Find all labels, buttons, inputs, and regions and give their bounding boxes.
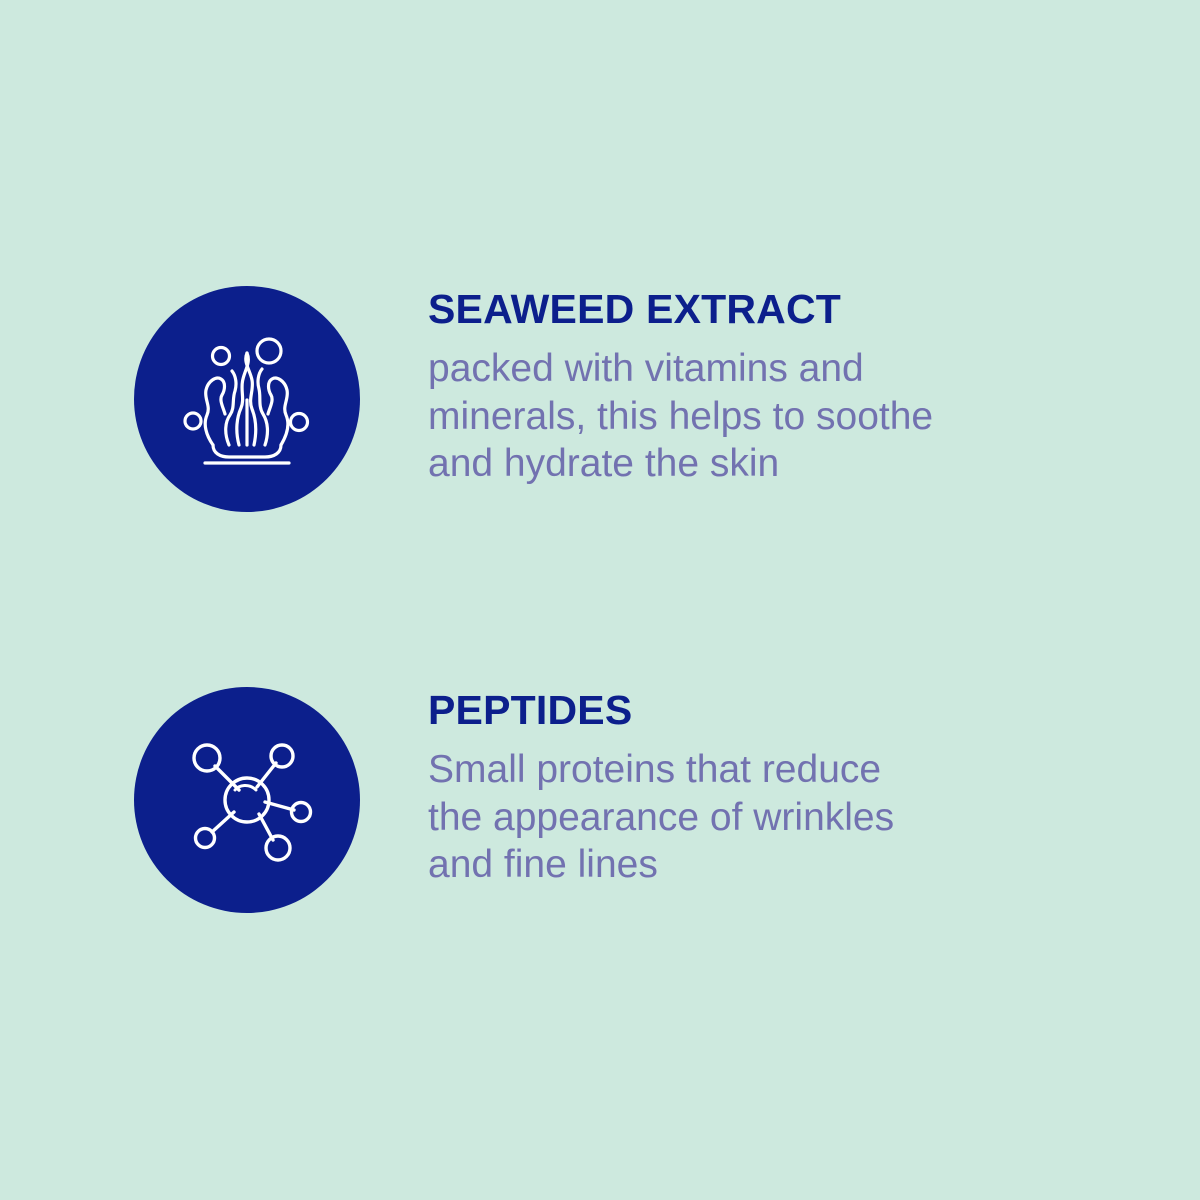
feature-description-line: and hydrate the skin [428,440,933,488]
molecule-icon-badge [134,687,360,913]
feature-text-seaweed-extract: SEAWEED EXTRACT packed with vitamins and… [428,286,933,488]
feature-description: Small proteins that reduce the appearanc… [428,746,894,889]
seaweed-icon [177,329,317,469]
feature-item-peptides: PEPTIDES Small proteins that reduce the … [134,687,894,913]
molecule-icon [177,730,317,870]
feature-item-seaweed-extract: SEAWEED EXTRACT packed with vitamins and… [134,286,933,512]
feature-description-line: and fine lines [428,841,894,889]
feature-description-line: minerals, this helps to soothe [428,393,933,441]
feature-description: packed with vitamins and minerals, this … [428,345,933,488]
feature-title: SEAWEED EXTRACT [428,288,933,331]
ingredients-panel: SEAWEED EXTRACT packed with vitamins and… [0,0,1200,1200]
feature-text-peptides: PEPTIDES Small proteins that reduce the … [428,687,894,889]
feature-description-line: the appearance of wrinkles [428,794,894,842]
seaweed-icon-badge [134,286,360,512]
feature-description-line: packed with vitamins and [428,345,933,393]
feature-title: PEPTIDES [428,689,894,732]
feature-description-line: Small proteins that reduce [428,746,894,794]
